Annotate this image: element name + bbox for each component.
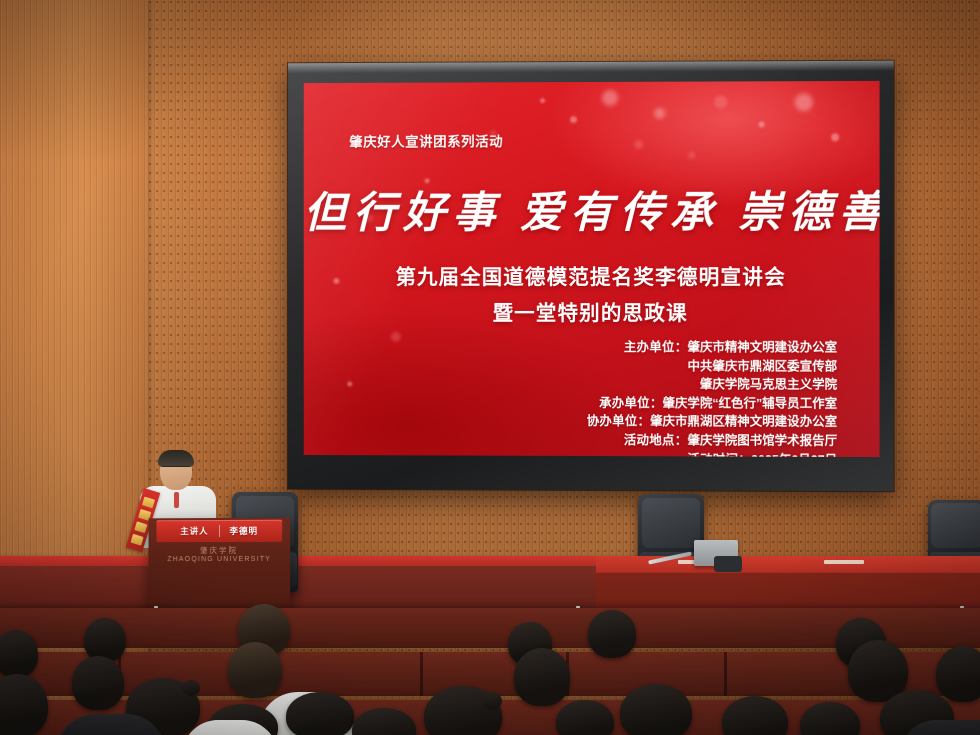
seat-divider — [724, 652, 727, 696]
hair-bun — [182, 680, 200, 696]
sash-character — [130, 534, 143, 546]
slide-meta-value: 肇庆市鼎湖区精神文明建设办公室 — [650, 415, 837, 430]
slide-meta-row: 中共肇庆市鼎湖区委宣传部 — [587, 357, 837, 376]
podium-nameplate: 主讲人 李德明 — [156, 520, 282, 542]
slide-meta-value: 肇庆学院马克思主义学院 — [700, 377, 837, 391]
chair-backrest — [931, 503, 980, 548]
audience-head — [0, 630, 38, 678]
slide-meta-label: 主办单位： — [624, 340, 688, 354]
chair-backrest — [642, 498, 700, 548]
nameplate-divider — [219, 525, 220, 537]
audience-head — [84, 618, 126, 662]
slide-meta-value: 2025年6月27日 — [751, 452, 837, 457]
slide-meta-label: 承办单位： — [599, 396, 663, 410]
speaker-hair — [158, 450, 194, 467]
slide-kicker: 肇庆好人宣讲团系列活动 — [349, 130, 503, 150]
audience-head — [286, 692, 354, 735]
slide-meta-row: 主办单位：肇庆市精神文明建设办公室 — [587, 338, 837, 357]
audience-head — [72, 656, 124, 710]
audience-head — [936, 646, 980, 702]
slide-meta-row: 承办单位：肇庆学院“红色行”辅导员工作室 — [587, 394, 837, 413]
slide-meta-row: 活动时间：2025年6月27日 — [587, 450, 837, 457]
slide-meta-label — [636, 377, 700, 391]
led-screen: 肇庆好人宣讲团系列活动 但行好事 爱有传承 崇德善行 第九届全国道德模范提名奖李… — [304, 81, 880, 457]
slide-meta-label: 活动时间： — [687, 452, 751, 457]
slide-meta-value: 肇庆学院图书馆学术报告厅 — [687, 433, 837, 448]
seat-row — [0, 608, 980, 648]
podium-institution-logo: 肇庆学院 ZHAOQING UNIVERSITY — [149, 546, 291, 564]
slide-subtitle-line-2: 暨一堂特别的思政课 — [304, 296, 880, 326]
slide-meta-value: 肇庆市精神文明建设办公室 — [687, 340, 837, 354]
audience-head — [514, 648, 570, 706]
slide-main-title: 但行好事 爱有传承 崇德善行 — [304, 177, 880, 240]
hair-bun — [482, 692, 502, 710]
auditorium-photo: 肇庆好人宣讲团系列活动 但行好事 爱有传承 崇德善行 第九届全国道德模范提名奖李… — [0, 0, 980, 735]
slide-metadata-block: 主办单位：肇庆市精神文明建设办公室 中共肇庆市鼎湖区委宣传部 肇庆学院马克思主义… — [587, 338, 837, 457]
audience-head — [228, 642, 282, 698]
podium-speaker-name: 李德明 — [229, 525, 258, 537]
sash-character — [134, 521, 147, 533]
presentation-slide: 肇庆好人宣讲团系列活动 但行好事 爱有传承 崇德善行 第九届全国道德模范提名奖李… — [304, 81, 880, 457]
slide-meta-label: 协办单位： — [587, 414, 651, 428]
audience-head — [620, 684, 692, 735]
glasses-icon — [162, 466, 190, 473]
slide-subtitle-line-1: 第九届全国道德模范提名奖李德明宣讲会 — [304, 260, 880, 290]
led-screen-frame: 肇庆好人宣讲团系列活动 但行好事 爱有传承 崇德善行 第九届全国道德模范提名奖李… — [288, 61, 894, 492]
audience-head — [588, 610, 636, 658]
slide-meta-value: 肇庆学院“红色行”辅导员工作室 — [663, 396, 838, 410]
seat-divider — [420, 652, 423, 696]
podium-institution-en: ZHAOQING UNIVERSITY — [167, 556, 271, 563]
slide-meta-value: 中共肇庆市鼎湖区委宣传部 — [687, 359, 837, 373]
microphone-base — [714, 556, 742, 572]
audience-area — [0, 596, 980, 735]
slide-meta-row: 肇庆学院马克思主义学院 — [587, 375, 837, 394]
speaker-lanyard — [174, 492, 179, 508]
slide-meta-row: 活动地点：肇庆学院图书馆学术报告厅 — [587, 431, 837, 450]
sash-character — [142, 497, 155, 509]
podium-institution-cn: 肇庆学院 — [149, 546, 291, 555]
table-paper — [824, 560, 864, 564]
slide-meta-row: 协办单位：肇庆市鼎湖区精神文明建设办公室 — [587, 412, 837, 431]
slide-meta-label — [624, 359, 688, 373]
podium-role-label: 主讲人 — [180, 525, 208, 537]
slide-meta-label: 活动地点： — [624, 433, 688, 447]
